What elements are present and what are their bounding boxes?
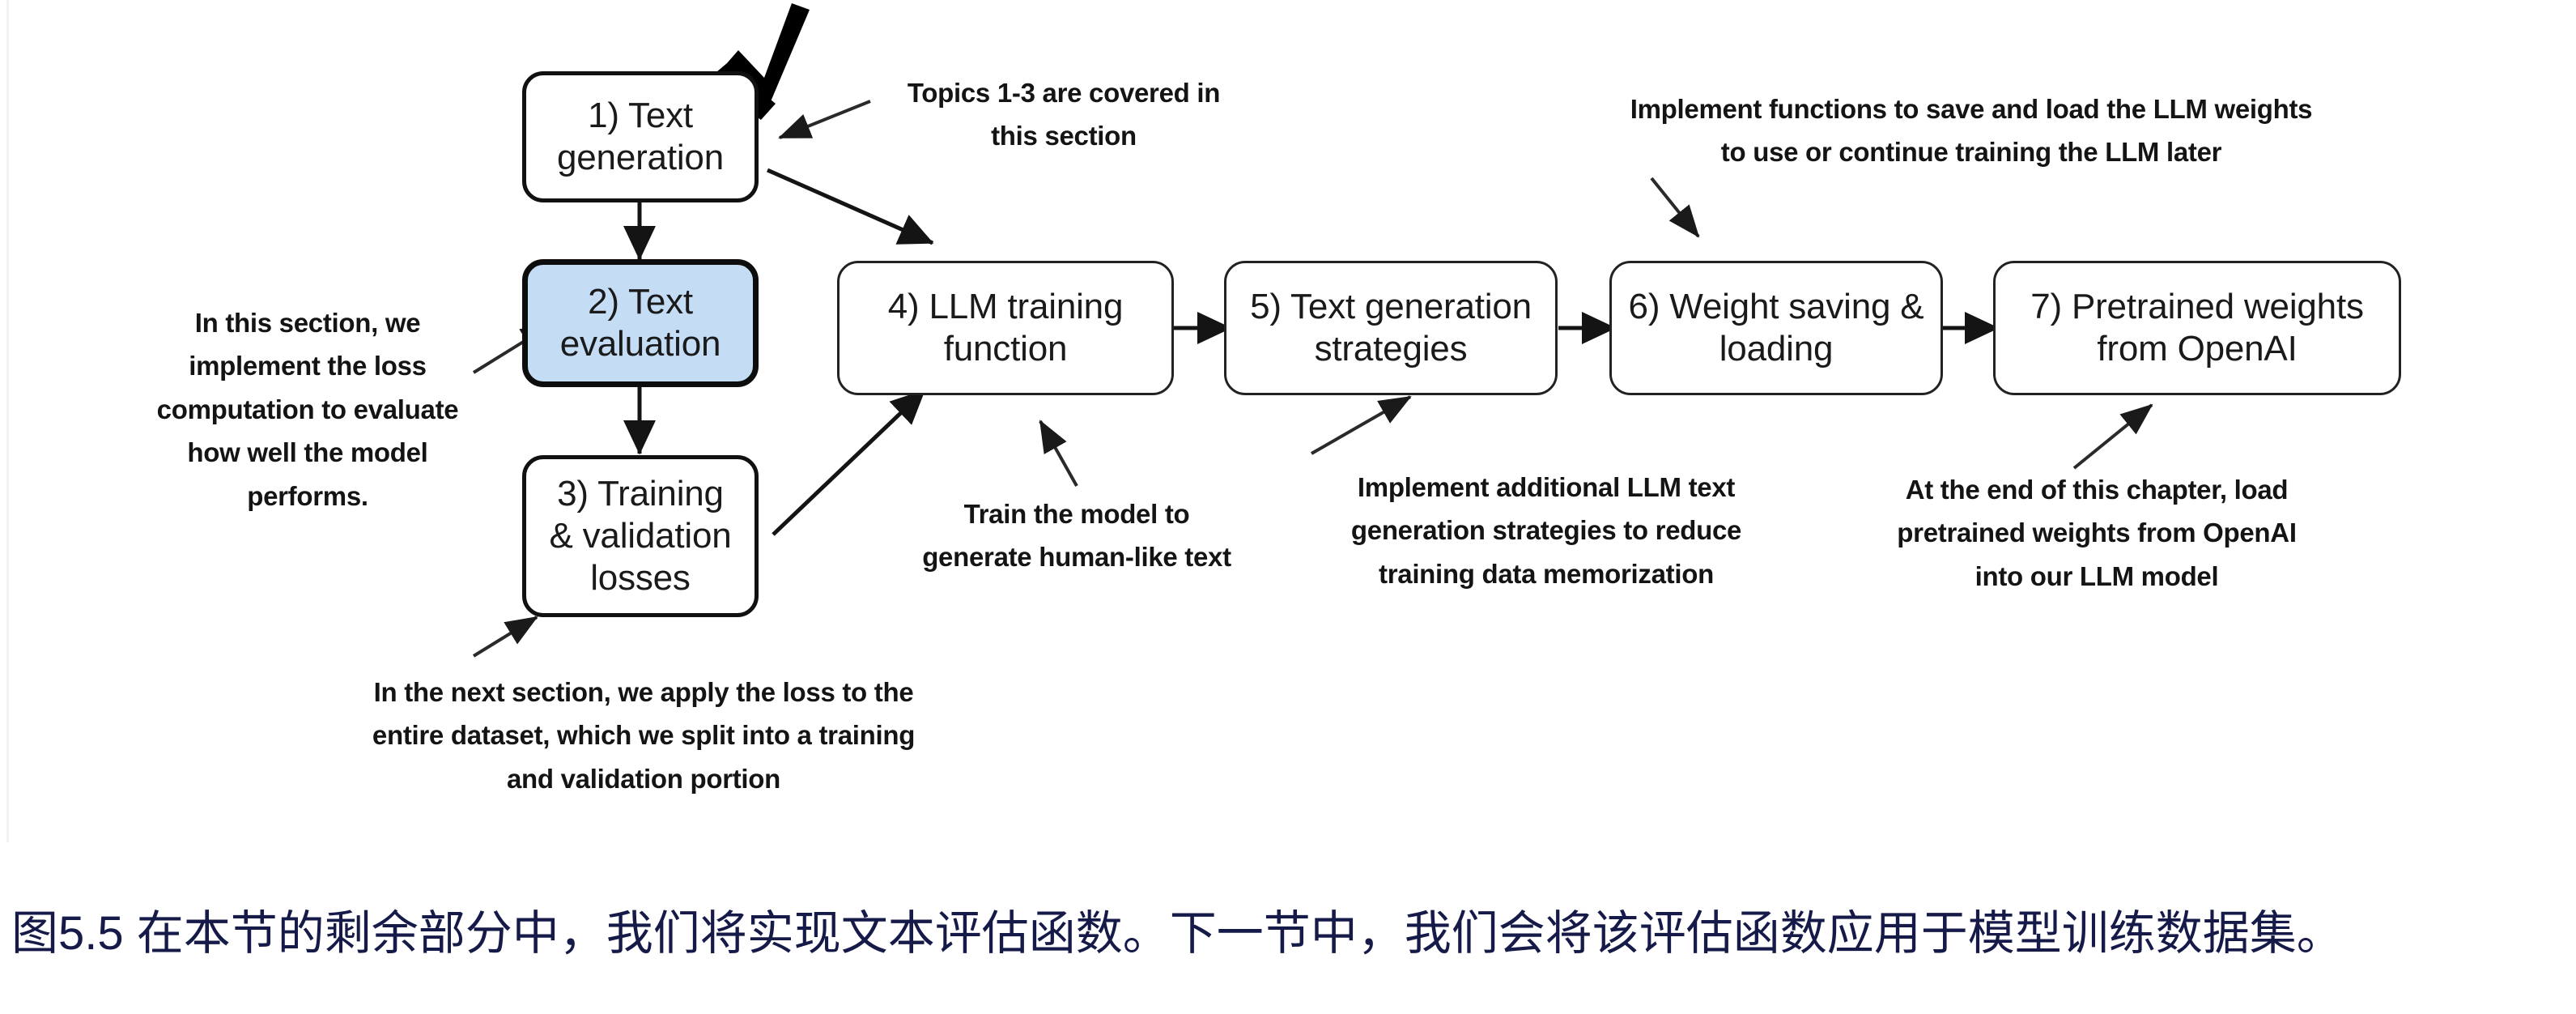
node-step6-label: 6) Weight saving & loading	[1617, 286, 1936, 370]
figure-canvas: 1) Text generation 2) Text evaluation 3)…	[0, 0, 2576, 1014]
leader-strategies-annotation	[1311, 397, 1410, 454]
figure-caption: 图5.5 在本节的剩余部分中，我们将实现文本评估函数。下一节中，我们会将该评估函…	[11, 905, 2570, 962]
node-step3-label: 3) Training & validation losses	[538, 473, 742, 599]
node-step7-pretrained-weights-openai[interactable]: 7) Pretrained weights from OpenAI	[1993, 261, 2401, 395]
node-step2-label: 2) Text evaluation	[549, 281, 733, 365]
node-step1-text-generation[interactable]: 1) Text generation	[522, 71, 759, 202]
leader-save-load-annotation	[1651, 178, 1698, 236]
annotation-additional-strategies: Implement additional LLM text generation…	[1295, 466, 1797, 595]
node-step4-label: 4) LLM training function	[877, 286, 1134, 370]
node-step5-text-generation-strategies[interactable]: 5) Text generation strategies	[1224, 261, 1558, 395]
annotation-topics-covered: Topics 1-3 are covered in this section	[878, 71, 1250, 158]
leader-next-section-annotation	[474, 617, 537, 656]
arrow-step1-to-step4	[767, 170, 933, 243]
node-step3-training-validation-losses[interactable]: 3) Training & validation losses	[522, 455, 759, 617]
node-step6-weight-saving-loading[interactable]: 6) Weight saving & loading	[1609, 261, 1943, 395]
node-step5-label: 5) Text generation strategies	[1239, 286, 1543, 370]
leader-train-model-annotation	[1040, 421, 1077, 486]
leader-end-of-chapter-annotation	[2074, 405, 2152, 468]
annotation-next-section-dataset: In the next section, we apply the loss t…	[324, 671, 963, 800]
annotation-end-of-chapter: At the end of this chapter, load pretrai…	[1846, 468, 2348, 598]
node-step7-label: 7) Pretrained weights from OpenAI	[2019, 286, 2375, 370]
annotation-save-load-weights: Implement functions to save and load the…	[1530, 87, 2412, 174]
node-step2-text-evaluation[interactable]: 2) Text evaluation	[522, 259, 759, 387]
node-step1-label: 1) Text generation	[546, 95, 735, 179]
leader-topics-annotation	[780, 101, 870, 138]
annotation-train-model: Train the model to generate human-like t…	[874, 492, 1279, 579]
annotation-loss-implementation: In this section, we implement the loss c…	[138, 301, 478, 518]
node-step4-llm-training-function[interactable]: 4) LLM training function	[837, 261, 1174, 395]
